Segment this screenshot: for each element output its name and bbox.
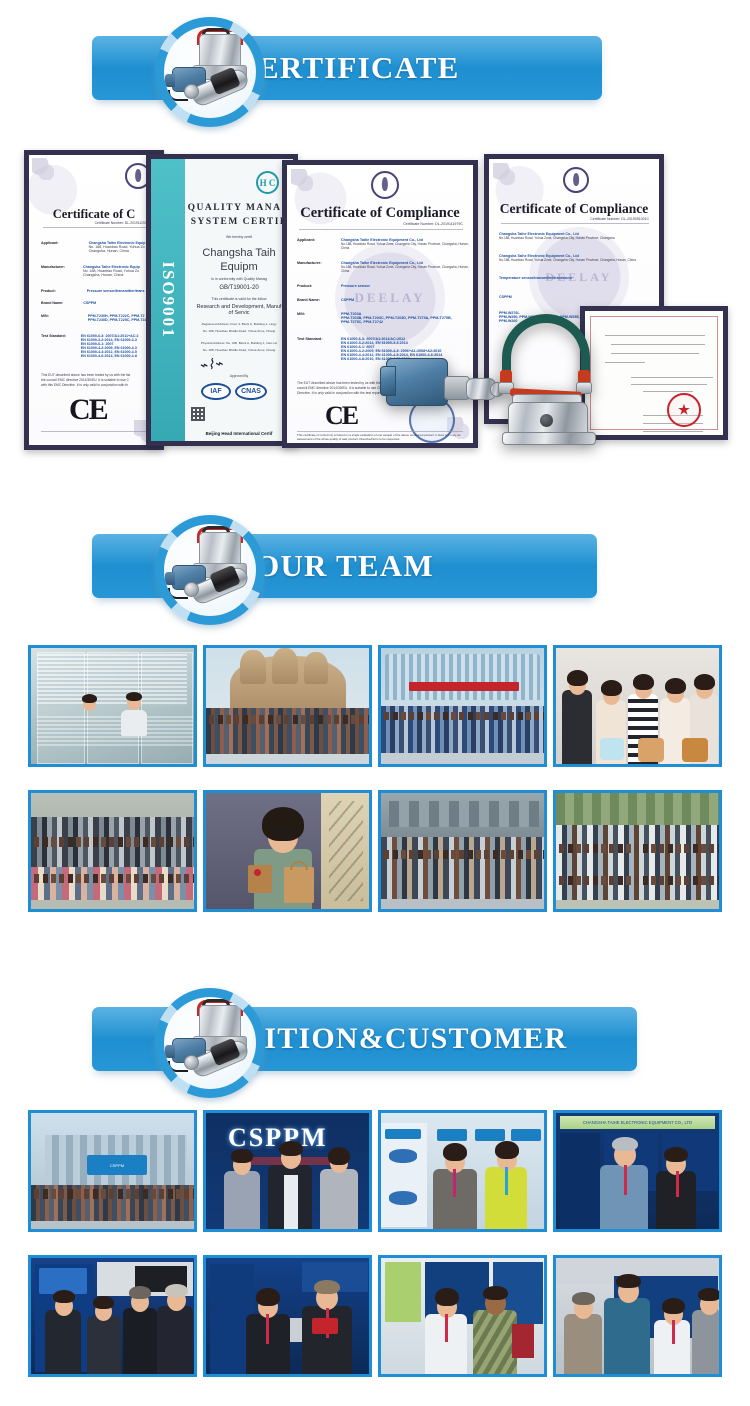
iso-certifier-logo-icon: H C	[256, 171, 279, 194]
cert-row: Manufacturer: Changsha Taihe Electronic …	[41, 265, 140, 277]
booth-business-discussion-photo	[31, 1258, 194, 1374]
iso-issuer: Beijing Head International Certif	[185, 431, 293, 436]
list-item[interactable]	[28, 1255, 197, 1377]
cert-row: Manufacturer: Changsha Taihe Electronic …	[297, 261, 473, 273]
list-item[interactable]	[378, 790, 547, 912]
cert-center-issuer-address: DL Certification & Testing Co., Ltd 4F, …	[297, 443, 464, 448]
our-team-title: OUR TEAM	[255, 548, 434, 584]
cert-left-footer: This EUT described above has been tested…	[41, 373, 150, 388]
cert-row: CSPPM	[499, 295, 512, 299]
iso-signature-icon: ⌁⌇⌁	[198, 356, 223, 375]
cert-row: Changsha Taihe Electronic Equipment Co.,…	[499, 232, 615, 240]
csppm-booth-three-people-photo: CSPPM	[206, 1113, 369, 1229]
team-group-large-outdoor-photo	[556, 793, 719, 909]
cert-row: Brand Name: CSPPM	[297, 298, 354, 302]
list-item[interactable]	[553, 1255, 722, 1377]
cert-row: M/N: PPM-T230H, PPM-T222C, PPM-T2 PPM-T2…	[41, 314, 147, 322]
iso-standard: GB/T19001-20	[185, 285, 293, 291]
iso-address-3: Physical Address: No. 408, Block A, Buil…	[185, 341, 293, 345]
list-item[interactable]	[28, 790, 197, 912]
iso-intro: We hereby certif	[185, 235, 293, 239]
ce-mark-icon: CE	[69, 393, 107, 427]
booth-staff-and-customer-photo	[381, 1258, 544, 1374]
iso-company-2: Equipm	[185, 261, 293, 273]
list-item[interactable]	[553, 645, 722, 767]
cert-row: M/N: PPM-T203A PPM-T203B, PPM-T203C, PPM…	[297, 312, 452, 324]
team-trip-courtyard-photo	[381, 793, 544, 909]
cnas-accreditation-icon: CNAS	[235, 383, 267, 400]
booth-group-visitors-photo	[556, 1258, 719, 1374]
team-photo-grid-row2	[0, 790, 750, 920]
cert-row: Test Standard: EN 61000-6-3: 2007/A1:201…	[41, 334, 139, 358]
certificate-ce-left[interactable]: Certificate of C Certificate Number: DL-…	[24, 150, 164, 450]
cert-row: Product: Pressure sensor/transmitter/tra…	[41, 289, 145, 293]
cert-row: Applicant: Changsha Taihe Electronic Equ…	[297, 238, 473, 250]
iso-heading-2: SYSTEM CERTIF	[185, 217, 293, 227]
team-outing-sand-sculpture-photo	[206, 648, 369, 764]
list-item[interactable]	[378, 1110, 547, 1232]
certificate-iso9001[interactable]: ISO9001 H C QUALITY MANAG SYSTEM CERTIF …	[146, 154, 298, 446]
cert-left-heading: Certificate of C	[29, 207, 159, 222]
cert-right-heading: Certificate of Compliance	[489, 201, 659, 217]
list-item[interactable]	[378, 645, 547, 767]
staff-holding-gift-photo	[206, 793, 369, 909]
qr-code-icon	[191, 407, 205, 421]
iso-scope: Research and Development, Manuf of Servi…	[185, 304, 293, 316]
cert-right-number: Certificate Number: DL-2019051001C	[590, 217, 649, 221]
list-item[interactable]	[378, 1255, 547, 1377]
iso-conformity: Is in conformity with Quality Manag	[185, 277, 293, 281]
cert-row: Product: Pressure sensor	[297, 284, 370, 288]
iso-scope-intro: This certificate is valid for the follow	[185, 297, 293, 301]
list-item[interactable]: CSPPM	[203, 1110, 372, 1232]
section-banner-exhibition-customer: EXHIBITION&CUSTOMER	[0, 985, 750, 1095]
list-item[interactable]	[203, 1255, 372, 1377]
list-item[interactable]: CSPPM	[28, 1110, 197, 1232]
list-item[interactable]: CHANGSHA TAIHE ELECTRONIC EQUIPMENT CO.,…	[553, 1110, 722, 1232]
list-item[interactable]	[553, 790, 722, 912]
pressure-sensor-hose-overlay-photo	[486, 308, 626, 448]
pressure-sensor-product-icon	[155, 515, 265, 625]
iso-address-2: No. 188, Huanbao Middle Road, Yuhua Zone…	[185, 329, 293, 333]
iso-approved-by: Approved By	[185, 374, 293, 378]
cert-center-heading: Certificate of Compliance	[287, 205, 473, 222]
pressure-sensor-product-icon	[155, 17, 265, 127]
cert-seal-icon	[563, 167, 589, 193]
certificates-collage: Certificate of C Certificate Number: DL-…	[0, 138, 750, 478]
section-banner-certificate: CERTIFICATE	[0, 14, 750, 124]
iso-address-4: No. 188, Huanbao Middle Road, Yuhua Zone…	[185, 348, 293, 352]
cert-row: Temperature sensor/transmitter/transduce…	[499, 276, 573, 280]
cert-row: Changsha Taihe Electronic Equipment Co.,…	[499, 254, 636, 262]
list-item[interactable]	[203, 790, 372, 912]
team-photo-grid-row1	[0, 645, 750, 775]
cert-seal-icon	[371, 171, 399, 199]
list-item[interactable]	[203, 645, 372, 767]
iso-company-1: Changsha Taih	[185, 247, 293, 259]
expo-venue-entrance-photo: CSPPM	[31, 1113, 194, 1229]
product-detail-page: CERTIFICATE Certificate of C Certificate…	[0, 0, 750, 1406]
certificate-title: CERTIFICATE	[234, 50, 459, 86]
iso-heading-1: QUALITY MANAG	[185, 203, 293, 213]
exhibition-photo-grid-row1: CSPPM CSPPM	[0, 1110, 750, 1240]
iaf-accreditation-icon: IAF	[201, 383, 231, 400]
team-group-outdoor-photo	[31, 793, 194, 909]
taihe-booth-visitor-photo: CHANGSHA TAIHE ELECTRONIC EQUIPMENT CO.,…	[556, 1113, 719, 1229]
cert-row: Applicant: Changsha Taihe Electronic Equ…	[41, 241, 145, 253]
cert-left-number: Certificate Number: DL-2019111979C	[95, 221, 151, 225]
venue-sign: CSPPM	[87, 1155, 147, 1175]
pressure-sensor-product-icon	[155, 988, 265, 1098]
ce-mark-icon: CE	[325, 401, 357, 431]
section-banner-our-team: OUR TEAM	[0, 512, 750, 622]
booth-two-women-visitors-photo	[381, 1113, 544, 1229]
list-item[interactable]	[28, 645, 197, 767]
booth-two-visitors-lanyards-photo	[206, 1258, 369, 1374]
iso-address-1: Registered Address: Floor 4, Block A, Bu…	[185, 322, 293, 326]
exhibition-photo-grid-row2	[0, 1255, 750, 1385]
official-red-seal-icon: ★	[667, 393, 701, 427]
iso9001-side-label: ISO9001	[151, 159, 185, 441]
team-outing-exhibition-hall-photo	[381, 648, 544, 764]
staff-with-gift-bags-photo	[556, 648, 719, 764]
booth-company-sign: CHANGSHA TAIHE ELECTRONIC EQUIPMENT CO.,…	[560, 1116, 715, 1129]
cert-row: Brand Name: CSPPM	[41, 301, 96, 305]
office-glass-partition-photo	[31, 648, 194, 764]
cert-center-number: Certificate Number: DL-2019111979C	[403, 222, 463, 226]
